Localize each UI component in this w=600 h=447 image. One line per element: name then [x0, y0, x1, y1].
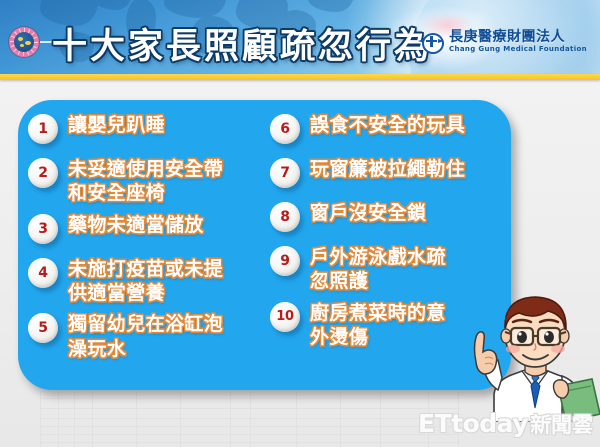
- list-item: 1讓嬰兒趴睡: [28, 112, 266, 150]
- list-item: 2未妥適使用安全帶 和安全座椅: [28, 156, 266, 206]
- item-number-badge: 6: [270, 114, 300, 144]
- chang-gung-cross-icon: [418, 33, 444, 50]
- item-label: 誤食不安全的玩具: [310, 112, 465, 137]
- item-label: 獨留幼兒在浴缸泡 澡玩水: [68, 311, 223, 361]
- item-number: 10: [276, 310, 294, 323]
- item-number: 7: [280, 166, 289, 180]
- item-label: 廚房煮菜時的意 外燙傷: [310, 300, 446, 350]
- infographic-poster: 十大家長照顧疏忽行為 長庚醫療財團法人 Chang Gung Medical F…: [0, 0, 600, 447]
- item-number: 4: [38, 266, 47, 280]
- list-item: 3藥物未適當儲放: [28, 212, 266, 250]
- list-item: 8窗戶沒安全鎖: [270, 200, 508, 238]
- item-number: 3: [38, 222, 47, 236]
- page-title: 十大家長照顧疏忽行為: [52, 18, 432, 69]
- item-number-badge: 4: [28, 258, 58, 288]
- building-blueprint-watermark: [40, 392, 460, 447]
- list-item: 4未施打疫苗或未提 供適當營養: [28, 256, 266, 306]
- item-label: 讓嬰兒趴睡: [68, 112, 165, 137]
- item-number-badge: 7: [270, 158, 300, 188]
- item-number: 9: [280, 254, 289, 268]
- item-number-badge: 10: [270, 302, 300, 332]
- item-label: 未施打疫苗或未提 供適當營養: [68, 256, 223, 306]
- logo-name-en: Chang Gung Medical Foundation: [449, 46, 587, 53]
- item-number-badge: 9: [270, 246, 300, 276]
- item-number: 1: [38, 122, 47, 136]
- item-label: 戶外游泳戲水疏 忽照護: [310, 244, 446, 294]
- list-item: 5獨留幼兒在浴缸泡 澡玩水: [28, 311, 266, 361]
- item-number-badge: 8: [270, 202, 300, 232]
- item-number: 2: [38, 166, 47, 180]
- cartoon-doctor-pointing-icon: [462, 282, 600, 422]
- item-number-badge: 3: [28, 214, 58, 244]
- watermark-brand-zh: 新聞雲: [530, 409, 593, 439]
- item-label: 未妥適使用安全帶 和安全座椅: [68, 156, 223, 206]
- item-number-badge: 1: [28, 114, 58, 144]
- logo-name-zh: 長庚醫療財團法人: [449, 30, 587, 44]
- item-label: 玩窗簾被拉繩勒住: [310, 156, 465, 181]
- list-item: 6誤食不安全的玩具: [270, 112, 508, 150]
- government-seal-icon: [9, 27, 39, 57]
- item-number-badge: 2: [28, 158, 58, 188]
- header-banner: 十大家長照顧疏忽行為 長庚醫療財團法人 Chang Gung Medical F…: [0, 0, 600, 74]
- header-underline: [0, 74, 600, 80]
- item-label: 窗戶沒安全鎖: [310, 200, 426, 225]
- item-number-badge: 5: [28, 313, 58, 343]
- item-number: 5: [38, 321, 47, 335]
- item-number: 8: [280, 210, 289, 224]
- watermark-brand: ETtoday: [418, 409, 528, 438]
- ettoday-watermark: ETtoday 新聞雲: [418, 409, 593, 439]
- chang-gung-logo: 長庚醫療財團法人 Chang Gung Medical Foundation: [418, 26, 587, 56]
- left-column: 1讓嬰兒趴睡2未妥適使用安全帶 和安全座椅3藥物未適當儲放4未施打疫苗或未提 供…: [28, 112, 266, 367]
- list-item: 7玩窗簾被拉繩勒住: [270, 156, 508, 194]
- item-label: 藥物未適當儲放: [68, 212, 204, 237]
- item-number: 6: [280, 122, 289, 136]
- items-panel: 1讓嬰兒趴睡2未妥適使用安全帶 和安全座椅3藥物未適當儲放4未施打疫苗或未提 供…: [18, 100, 511, 390]
